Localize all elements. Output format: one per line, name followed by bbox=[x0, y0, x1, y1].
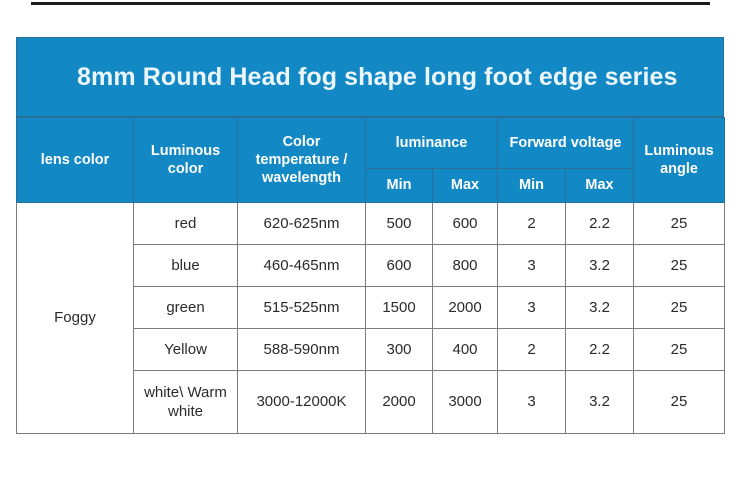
cell-luminance-max: 2000 bbox=[433, 287, 498, 329]
column-header-voltage-min: Min bbox=[498, 169, 566, 203]
cell-luminous-angle: 25 bbox=[634, 371, 725, 434]
column-header-luminance-min: Min bbox=[366, 169, 433, 203]
cell-color-temperature: 588-590nm bbox=[238, 329, 366, 371]
cell-luminous-angle: 25 bbox=[634, 203, 725, 245]
cell-luminance-min: 500 bbox=[366, 203, 433, 245]
column-header-luminance-max: Max bbox=[433, 169, 498, 203]
cell-luminous-angle: 25 bbox=[634, 329, 725, 371]
cell-voltage-max: 2.2 bbox=[566, 329, 634, 371]
column-header-lens-color: lens color bbox=[17, 118, 134, 203]
cell-luminous-color: green bbox=[134, 287, 238, 329]
column-header-luminance: luminance bbox=[366, 118, 498, 169]
cell-color-temperature: 620-625nm bbox=[238, 203, 366, 245]
cell-color-temperature: 460-465nm bbox=[238, 245, 366, 287]
cell-voltage-max: 3.2 bbox=[566, 287, 634, 329]
cell-voltage-min: 3 bbox=[498, 287, 566, 329]
cell-luminance-min: 2000 bbox=[366, 371, 433, 434]
cell-voltage-min: 2 bbox=[498, 203, 566, 245]
page-title: 8mm Round Head fog shape long foot edge … bbox=[77, 63, 678, 92]
cell-luminous-angle: 25 bbox=[634, 287, 725, 329]
cell-luminous-color: Yellow bbox=[134, 329, 238, 371]
column-header-color-temperature: Color temperature / wavelength bbox=[238, 118, 366, 203]
table-row: Foggy red 620-625nm 500 600 2 2.2 25 bbox=[17, 203, 725, 245]
column-header-forward-voltage: Forward voltage bbox=[498, 118, 634, 169]
column-header-luminous-angle: Luminous angle bbox=[634, 118, 725, 203]
header-row-main: lens color Luminous color Color temperat… bbox=[17, 118, 725, 169]
cell-luminance-max: 800 bbox=[433, 245, 498, 287]
top-divider-rule bbox=[31, 2, 710, 5]
table-body: Foggy red 620-625nm 500 600 2 2.2 25 blu… bbox=[17, 203, 725, 434]
spec-title-bar: 8mm Round Head fog shape long foot edge … bbox=[16, 37, 724, 117]
cell-voltage-min: 3 bbox=[498, 245, 566, 287]
cell-luminance-min: 300 bbox=[366, 329, 433, 371]
cell-luminance-min: 1500 bbox=[366, 287, 433, 329]
cell-voltage-min: 3 bbox=[498, 371, 566, 434]
cell-voltage-max: 2.2 bbox=[566, 203, 634, 245]
table-header: lens color Luminous color Color temperat… bbox=[17, 118, 725, 203]
product-spec-card: 8mm Round Head fog shape long foot edge … bbox=[16, 37, 724, 430]
cell-luminance-max: 400 bbox=[433, 329, 498, 371]
cell-luminance-min: 600 bbox=[366, 245, 433, 287]
cell-luminous-color: red bbox=[134, 203, 238, 245]
cell-luminance-max: 3000 bbox=[433, 371, 498, 434]
cell-luminance-max: 600 bbox=[433, 203, 498, 245]
specification-table: lens color Luminous color Color temperat… bbox=[16, 117, 725, 434]
cell-color-temperature: 515-525nm bbox=[238, 287, 366, 329]
cell-voltage-min: 2 bbox=[498, 329, 566, 371]
column-header-voltage-max: Max bbox=[566, 169, 634, 203]
cell-color-temperature: 3000-12000K bbox=[238, 371, 366, 434]
cell-lens-color-foggy: Foggy bbox=[17, 203, 134, 434]
cell-luminous-color: blue bbox=[134, 245, 238, 287]
cell-luminous-color: white\ Warm white bbox=[134, 371, 238, 434]
cell-luminous-angle: 25 bbox=[634, 245, 725, 287]
cell-voltage-max: 3.2 bbox=[566, 245, 634, 287]
cell-voltage-max: 3.2 bbox=[566, 371, 634, 434]
column-header-luminous-color: Luminous color bbox=[134, 118, 238, 203]
